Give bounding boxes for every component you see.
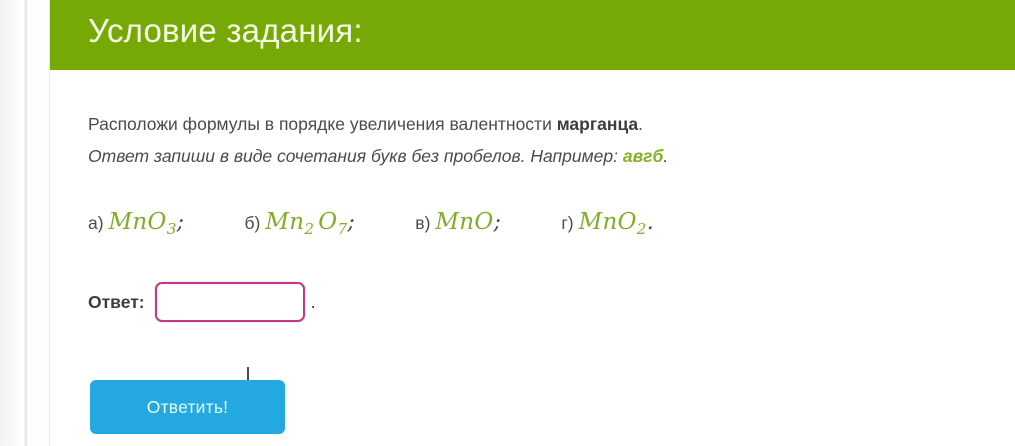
formula-element-mn: Mn [109,209,148,235]
task-header-bar: Условие задания: [50,0,1015,70]
instruction-note-text: Ответ запиши в виде сочетания букв без п… [88,146,623,166]
option-letter-b: б) [245,213,261,233]
answer-input[interactable] [155,282,305,322]
formula-mno2: MnO2 [579,209,647,235]
formula-oxygen-symbol: O [318,209,337,235]
submit-answer-button[interactable]: Ответить! [90,380,285,434]
instruction-text-part-1: Расположи формулы в порядке увеличения в… [88,114,557,134]
formula-oxygen-subscript: 7 [337,220,347,238]
formula-element-mn: Mn [265,209,304,235]
formula-option-b: б)Mn2O7; [245,209,355,235]
formula-option-g: г)MnO2. [561,209,653,235]
instruction-emphasis-manganese: марганца [557,114,638,134]
option-letter-g: г) [561,213,573,233]
formula-oxygen-symbol: O [618,209,637,235]
task-instruction-line-1: Расположи формулы в порядке увеличения в… [88,108,988,140]
formula-mno3: MnO3 [109,209,177,235]
formula-element-mn: Mn [579,209,618,235]
page-title: Условие задания: [88,12,363,50]
formula-oxygen-symbol: O [148,209,167,235]
answer-label: Ответ: [88,292,145,313]
formula-mn-subscript: 2 [304,220,314,238]
formula-oxygen-subscript: 2 [637,220,647,238]
formula-mn2o7: Mn2O7 [265,209,347,235]
formula-option-v: в)MnO; [415,209,501,235]
answer-trailing-period: . [311,292,316,313]
formula-oxygen-symbol: O [474,209,493,235]
option-letter-v: в) [415,213,430,233]
task-instruction-line-2: Ответ запиши в виде сочетания букв без п… [88,140,988,172]
formula-mno: MnO [435,209,493,235]
task-body: Расположи формулы в порядке увеличения в… [50,70,1015,446]
task-page: Условие задания: Расположи формулы в пор… [0,0,1015,446]
option-punct-g: . [647,210,654,235]
option-punct-a: ; [177,210,184,235]
option-punct-v: ; [494,210,501,235]
formula-element-mn: Mn [435,209,474,235]
instruction-example-answer: авгб [623,146,663,166]
option-punct-b: ; [347,210,354,235]
formula-option-a: а)MnO3; [88,209,184,235]
instruction-note-period: . [663,146,668,166]
formula-oxygen-subscript: 3 [167,220,177,238]
option-letter-a: а) [88,213,104,233]
answer-row: Ответ: . [88,280,316,324]
formula-options-row: а)MnO3; б)Mn2O7; в)MnO; г)MnO2. [88,209,654,249]
left-gutter-strip [0,0,50,446]
instruction-text-part-2: . [638,114,643,134]
